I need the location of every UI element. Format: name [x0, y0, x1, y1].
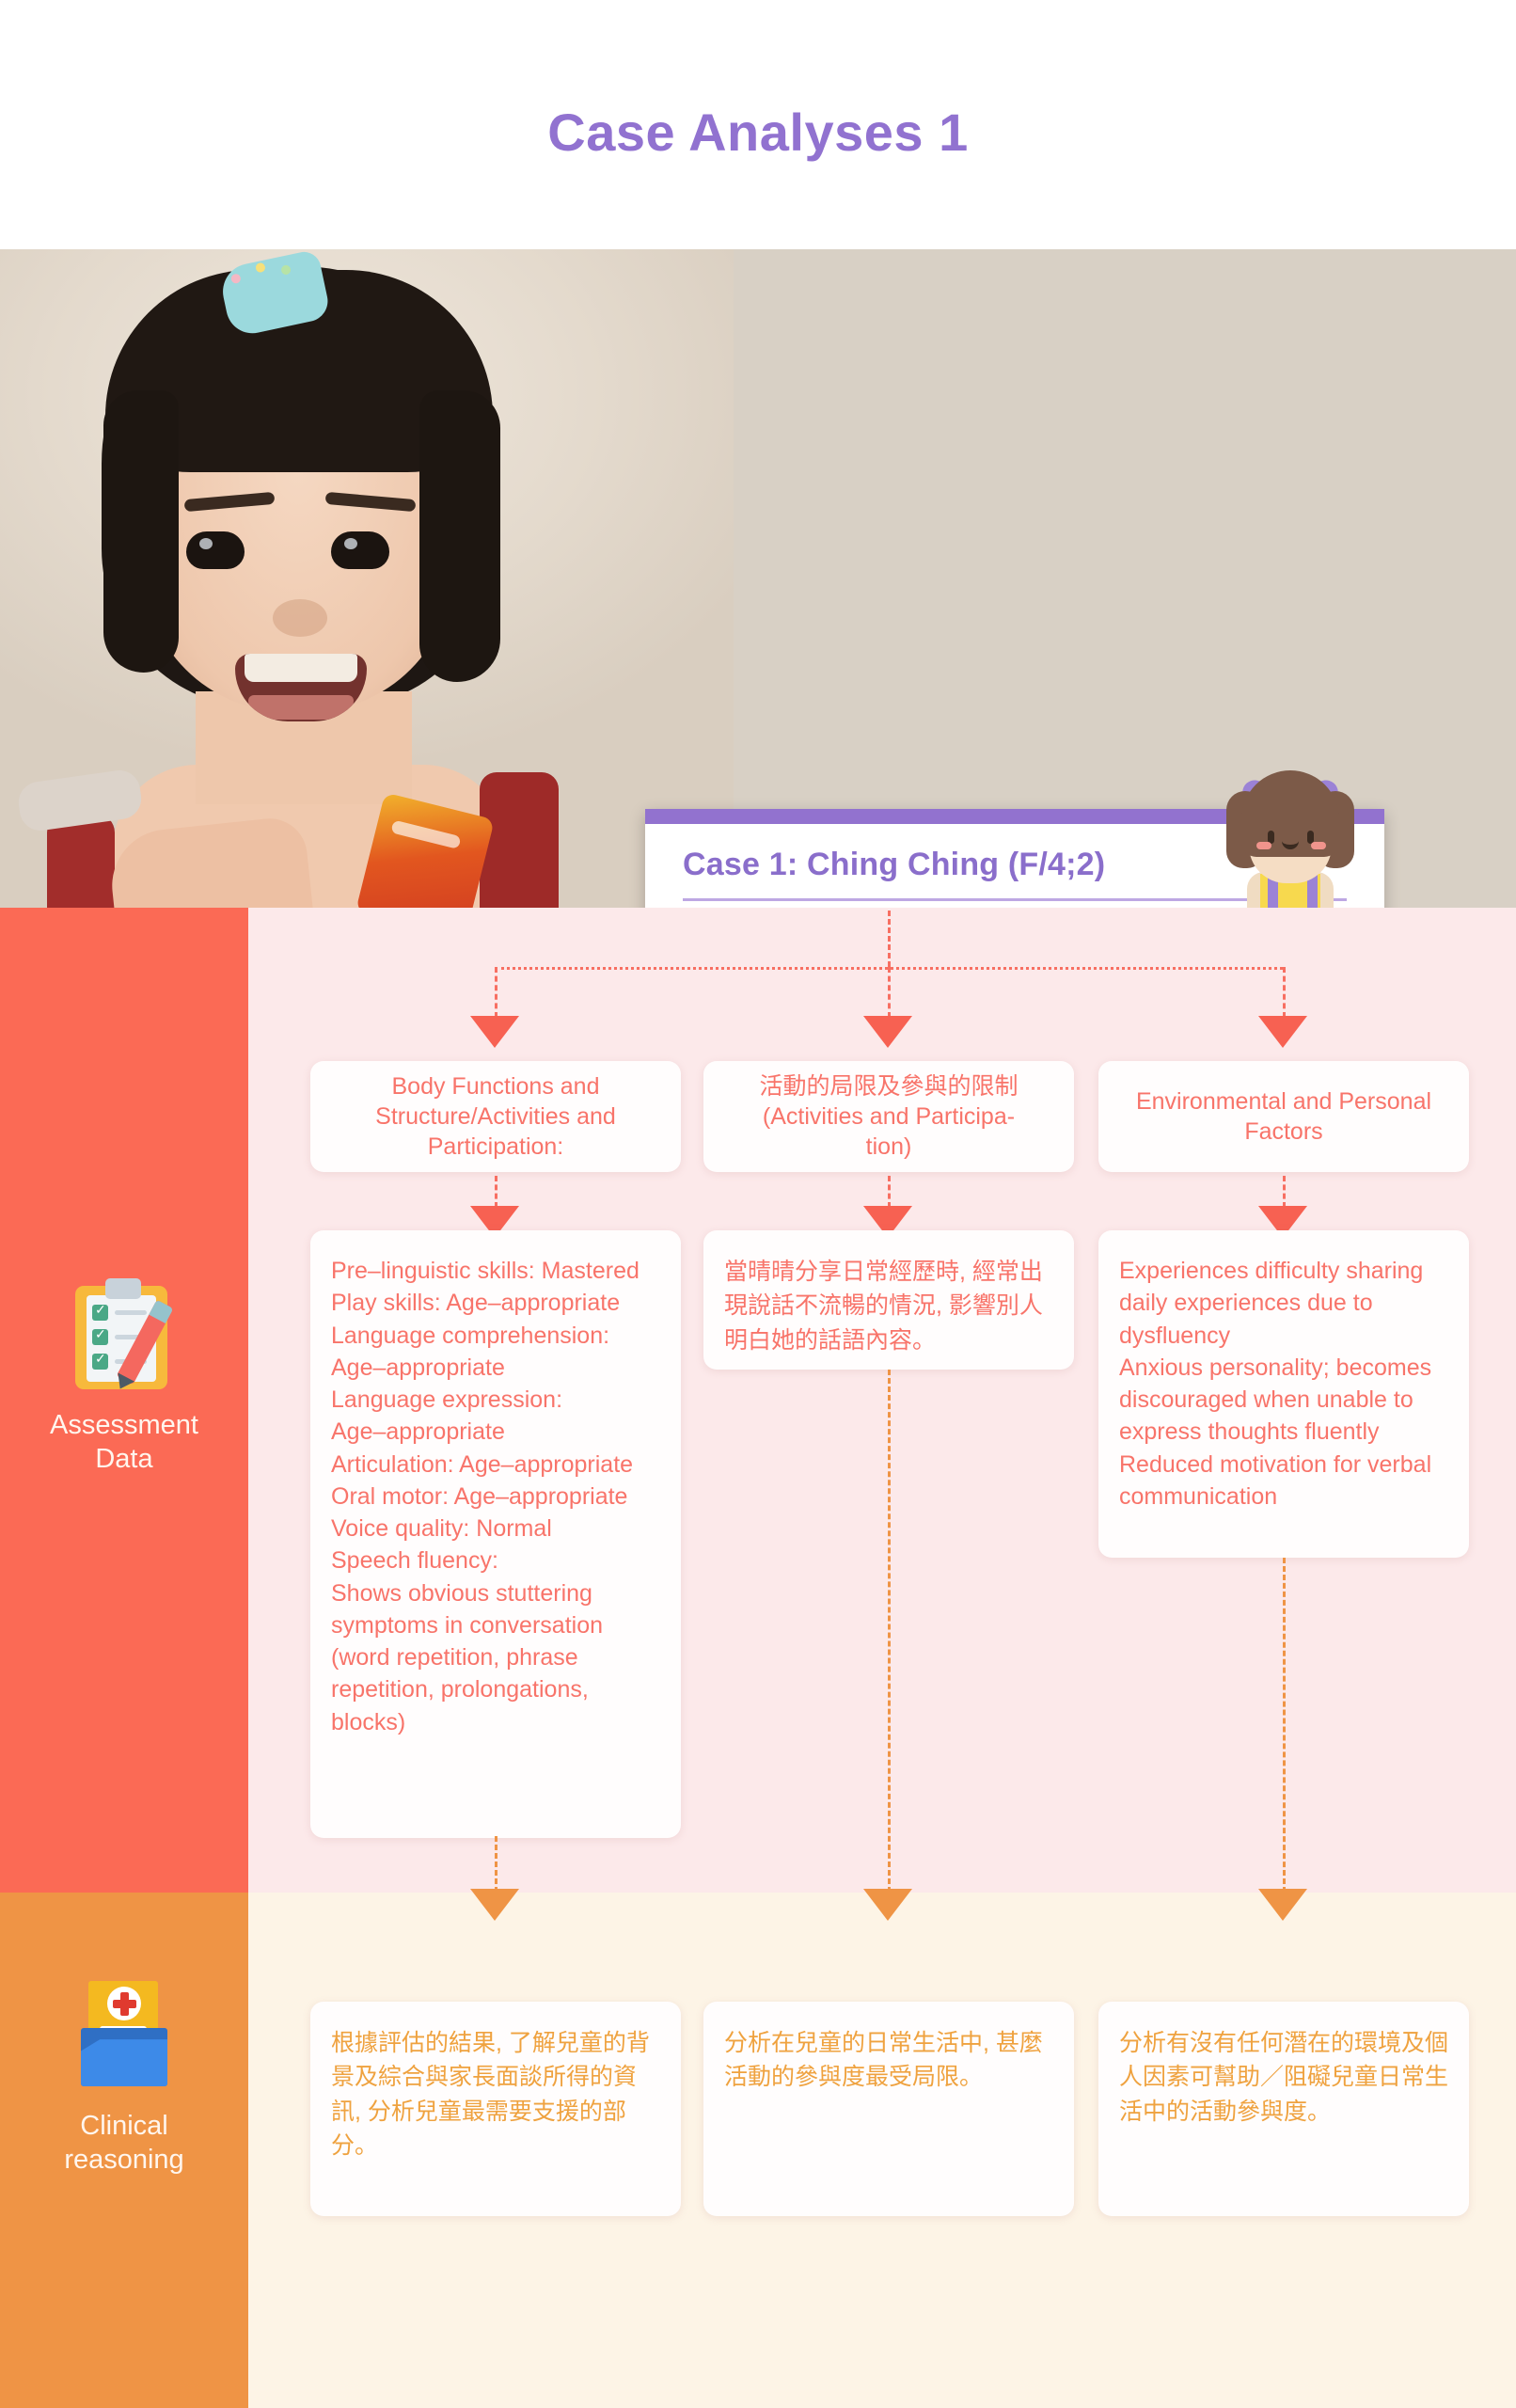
arrow-to-clinical-col2 — [863, 1889, 912, 1921]
clinical-rail-label: Clinical reasoning — [64, 2109, 183, 2178]
connector-drop-col1 — [495, 967, 497, 1018]
column-header-environmental-personal: Environmental and Personal Factors — [1098, 1061, 1469, 1172]
arrow-to-header-col1 — [470, 1016, 519, 1048]
medical-file-icon — [64, 1975, 184, 2096]
connector-header-to-content-col1 — [495, 1176, 497, 1208]
arrow-to-clinical-col1 — [470, 1889, 519, 1921]
assessment-content-col2: 當晴晴分享日常經歷時, 經常出現說話不流暢的情況, 影響別人明白她的話語內容。 — [703, 1230, 1074, 1370]
assessment-content-col1: Pre–linguistic skills: Mastered Play ski… — [310, 1230, 681, 1838]
arrow-to-header-col2 — [863, 1016, 912, 1048]
page-title: Case Analyses 1 — [0, 102, 1516, 163]
connector-to-clinical-col1 — [495, 1836, 497, 1893]
assessment-rail-content: Assessment Data — [0, 1275, 248, 1477]
assessment-rail-label: Assessment Data — [50, 1408, 198, 1477]
clinical-content-col2: 分析在兒童的日常生活中, 甚麼活動的參與度最受局限。 — [703, 2002, 1074, 2216]
column-header-body-functions: Body Functions and Structure/Activities … — [310, 1061, 681, 1172]
connector-to-clinical-col2 — [888, 1370, 891, 1893]
slide-root: Case Analyses 1 — [0, 0, 1516, 2408]
connector-header-to-content-col3 — [1283, 1176, 1286, 1208]
arrow-to-clinical-col3 — [1258, 1889, 1307, 1921]
assessment-content-col3: Experiences difficulty sharing daily exp… — [1098, 1230, 1469, 1558]
connector-to-clinical-col3 — [1283, 1558, 1286, 1893]
clinical-rail-content: Clinical reasoning — [0, 1975, 248, 2178]
case-photo — [0, 249, 734, 908]
connector-drop-col2 — [888, 967, 891, 1018]
clinical-content-col1: 根據評估的結果, 了解兒童的背景及綜合與家長面談所得的資訊, 分析兒童最需要支援… — [310, 2002, 681, 2216]
clinical-content-col3: 分析有沒有任何潛在的環境及個人因素可幫助／阻礙兒童日常生活中的活動參與度。 — [1098, 2002, 1469, 2216]
clipboard-checklist-icon — [64, 1275, 184, 1395]
girl-avatar-icon — [1206, 759, 1375, 908]
connector-drop-col3 — [1283, 967, 1286, 1018]
column-header-activities-participation: 活動的局限及參與的限制 (Activities and Participa- t… — [703, 1061, 1074, 1172]
child-photo-illustration — [0, 249, 734, 908]
connector-header-to-content-col2 — [888, 1176, 891, 1208]
arrow-to-header-col3 — [1258, 1016, 1307, 1048]
connector-root-vertical — [888, 911, 891, 967]
hero-band: Case 1: Ching Ching (F/4;2) Health condi… — [0, 249, 1516, 908]
